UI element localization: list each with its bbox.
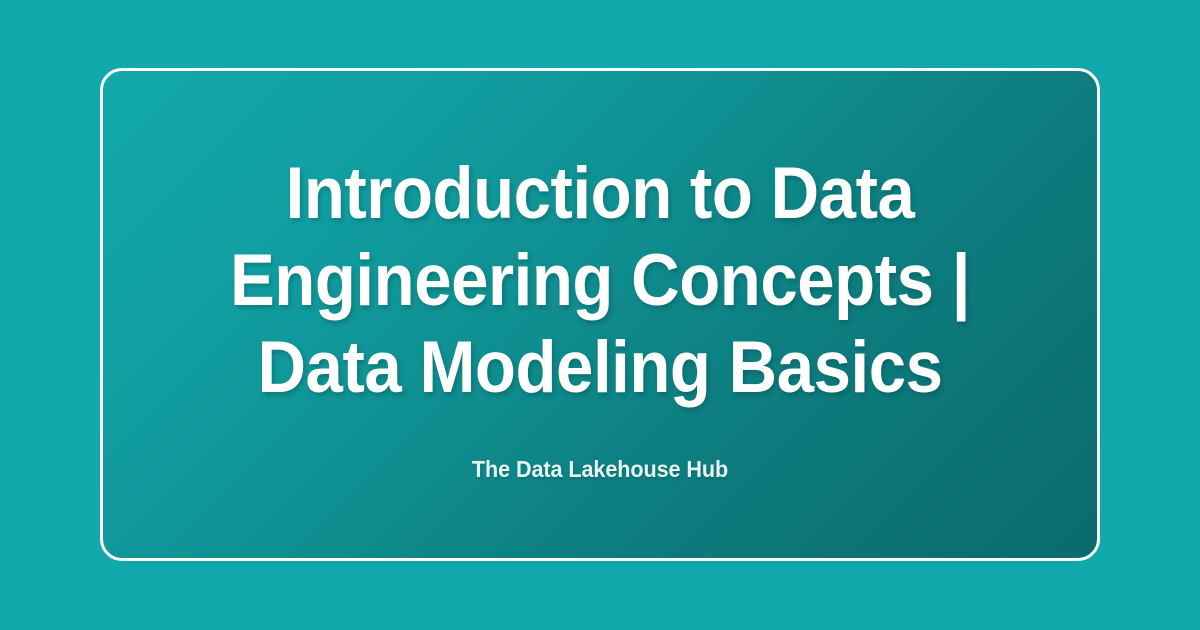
page-title: Introduction to Data Engineering Concept… xyxy=(185,150,1015,411)
og-social-card: Introduction to Data Engineering Concept… xyxy=(0,0,1200,630)
card-content: Introduction to Data Engineering Concept… xyxy=(103,150,1097,483)
card-frame: Introduction to Data Engineering Concept… xyxy=(100,68,1100,561)
site-name-subtitle: The Data Lakehouse Hub xyxy=(176,411,1024,483)
